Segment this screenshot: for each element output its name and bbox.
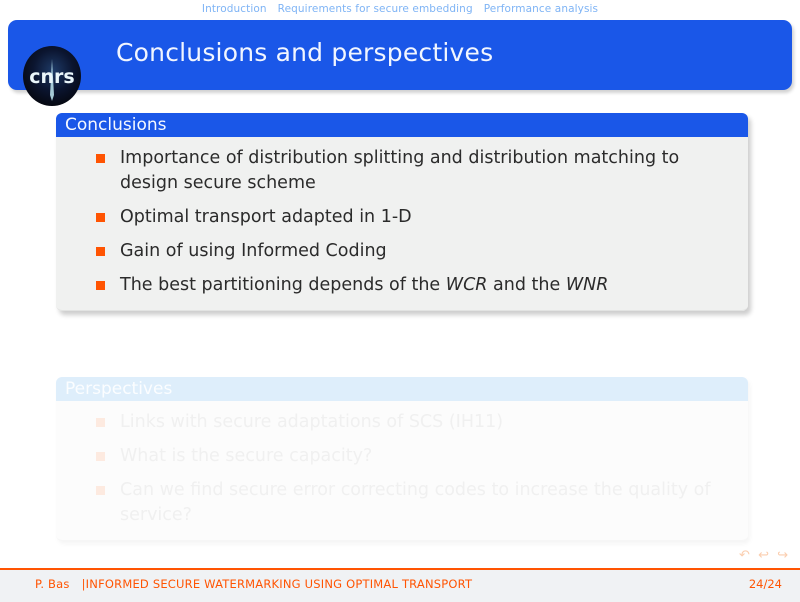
bullet-square-icon — [96, 213, 105, 222]
list-item: The best partitioning depends of the WCR… — [96, 273, 734, 298]
nav-item-introduction[interactable]: Introduction — [202, 4, 267, 15]
block-conclusions-body: Importance of distribution splitting and… — [56, 137, 748, 311]
beamer-navigation-symbols-icon[interactable]: ↶ ↩ ↪ — [739, 549, 790, 562]
list-item-emphasis-wnr: WNR — [566, 275, 609, 295]
conclusions-list: Importance of distribution splitting and… — [70, 146, 734, 298]
bullet-square-icon — [96, 281, 105, 290]
nav-item-requirements[interactable]: Requirements for secure embedding — [278, 4, 473, 15]
footer-page-number: 24/24 — [749, 579, 782, 591]
list-item-emphasis-wcr: WCR — [446, 275, 488, 295]
list-item-text: Gain of using Informed Coding — [120, 241, 387, 261]
list-item-text: Links with secure adaptations of SCS (IH… — [120, 412, 503, 432]
footer-title: INFORMED SECURE WATERMARKING USING OPTIM… — [86, 577, 473, 591]
list-item-text: Importance of distribution splitting and… — [120, 148, 679, 193]
cnrs-logo-icon: cnrs — [21, 45, 83, 107]
bullet-square-icon — [96, 154, 105, 163]
cnrs-logo-text: cnrs — [29, 66, 74, 88]
nav-item-performance[interactable]: Performance analysis — [484, 4, 598, 15]
bullet-square-icon — [96, 452, 105, 461]
footer-text: P. Bas|INFORMED SECURE WATERMARKING USIN… — [35, 579, 472, 591]
list-item-text: Optimal transport adapted in 1-D — [120, 207, 412, 227]
perspectives-list: Links with secure adaptations of SCS (IH… — [70, 410, 734, 528]
bullet-square-icon — [96, 247, 105, 256]
list-item-text: Can we find secure error correcting code… — [120, 480, 711, 525]
block-conclusions: Conclusions Importance of distribution s… — [56, 113, 748, 311]
block-conclusions-title: Conclusions — [56, 113, 748, 137]
block-perspectives-title: Perspectives — [56, 377, 748, 401]
list-item: Links with secure adaptations of SCS (IH… — [96, 410, 734, 435]
slide-footer: P. Bas|INFORMED SECURE WATERMARKING USIN… — [0, 568, 800, 602]
list-item-text: What is the secure capacity? — [120, 446, 372, 466]
page-title: Conclusions and perspectives — [116, 40, 493, 65]
list-item-text: The best partitioning depends of the — [120, 275, 446, 295]
block-perspectives-body: Links with secure adaptations of SCS (IH… — [56, 401, 748, 541]
block-perspectives: Perspectives Links with secure adaptatio… — [56, 377, 748, 541]
list-item: Optimal transport adapted in 1-D — [96, 205, 734, 230]
list-item-text-mid: and the — [487, 275, 565, 295]
footer-author: P. Bas — [35, 577, 70, 591]
slide-title-bar: cnrs Conclusions and perspectives — [8, 20, 792, 90]
list-item: Importance of distribution splitting and… — [96, 146, 734, 196]
list-item: What is the secure capacity? — [96, 444, 734, 469]
list-item: Can we find secure error correcting code… — [96, 478, 734, 528]
top-navigation-bar: Introduction Requirements for secure emb… — [0, 0, 800, 18]
list-item: Gain of using Informed Coding — [96, 239, 734, 264]
bullet-square-icon — [96, 418, 105, 427]
bullet-square-icon — [96, 486, 105, 495]
